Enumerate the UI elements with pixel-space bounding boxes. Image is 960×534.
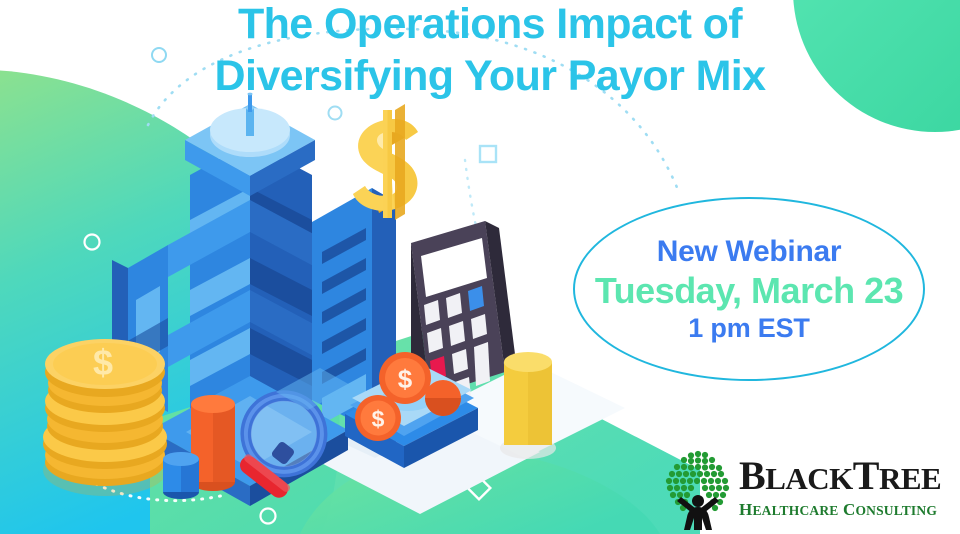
logo-brand-t: T: [853, 453, 879, 498]
dollar-coin-edge: [425, 380, 461, 416]
yellow-cylinder: [500, 352, 556, 459]
svg-text:$: $: [93, 342, 113, 383]
logo-wordmark: BLACKTREE HEALTHCARE CONSULTING: [739, 454, 951, 520]
logo-tagline-c: C: [843, 500, 855, 519]
logo-tagline-ealthcare: EALTHCARE: [752, 503, 838, 518]
logo-brand-name: BLACKTREE: [739, 454, 951, 501]
logo-tagline-h: H: [739, 500, 752, 519]
webinar-label: New Webinar: [657, 235, 842, 269]
blacktree-logo: BLACKTREE HEALTHCARE CONSULTING: [657, 448, 952, 530]
webinar-callout: New Webinar Tuesday, March 23 1 pm EST: [573, 197, 925, 381]
person-figure-icon: [677, 495, 719, 530]
logo-tagline: HEALTHCARE CONSULTING: [739, 500, 951, 520]
logo-brand-ree: REE: [879, 461, 941, 496]
svg-text:$: $: [372, 406, 385, 432]
blue-cylinder: [163, 452, 199, 499]
dollar-coin-secondary: $: [355, 395, 401, 441]
dollar-coin: $: [379, 352, 431, 404]
logo-brand-b: B: [739, 453, 765, 498]
webinar-date: Tuesday, March 23: [595, 270, 903, 312]
logo-tagline-onsulting: ONSULTING: [855, 503, 937, 518]
tree-logo-icon: [657, 448, 739, 530]
dollar-sign-icon: [353, 104, 418, 220]
webinar-promo-graphic: $ $: [0, 0, 960, 534]
webinar-time: 1 pm EST: [688, 313, 809, 344]
logo-brand-lack: LACK: [765, 461, 853, 496]
coin-stack: $: [43, 339, 167, 496]
svg-text:$: $: [398, 364, 413, 394]
